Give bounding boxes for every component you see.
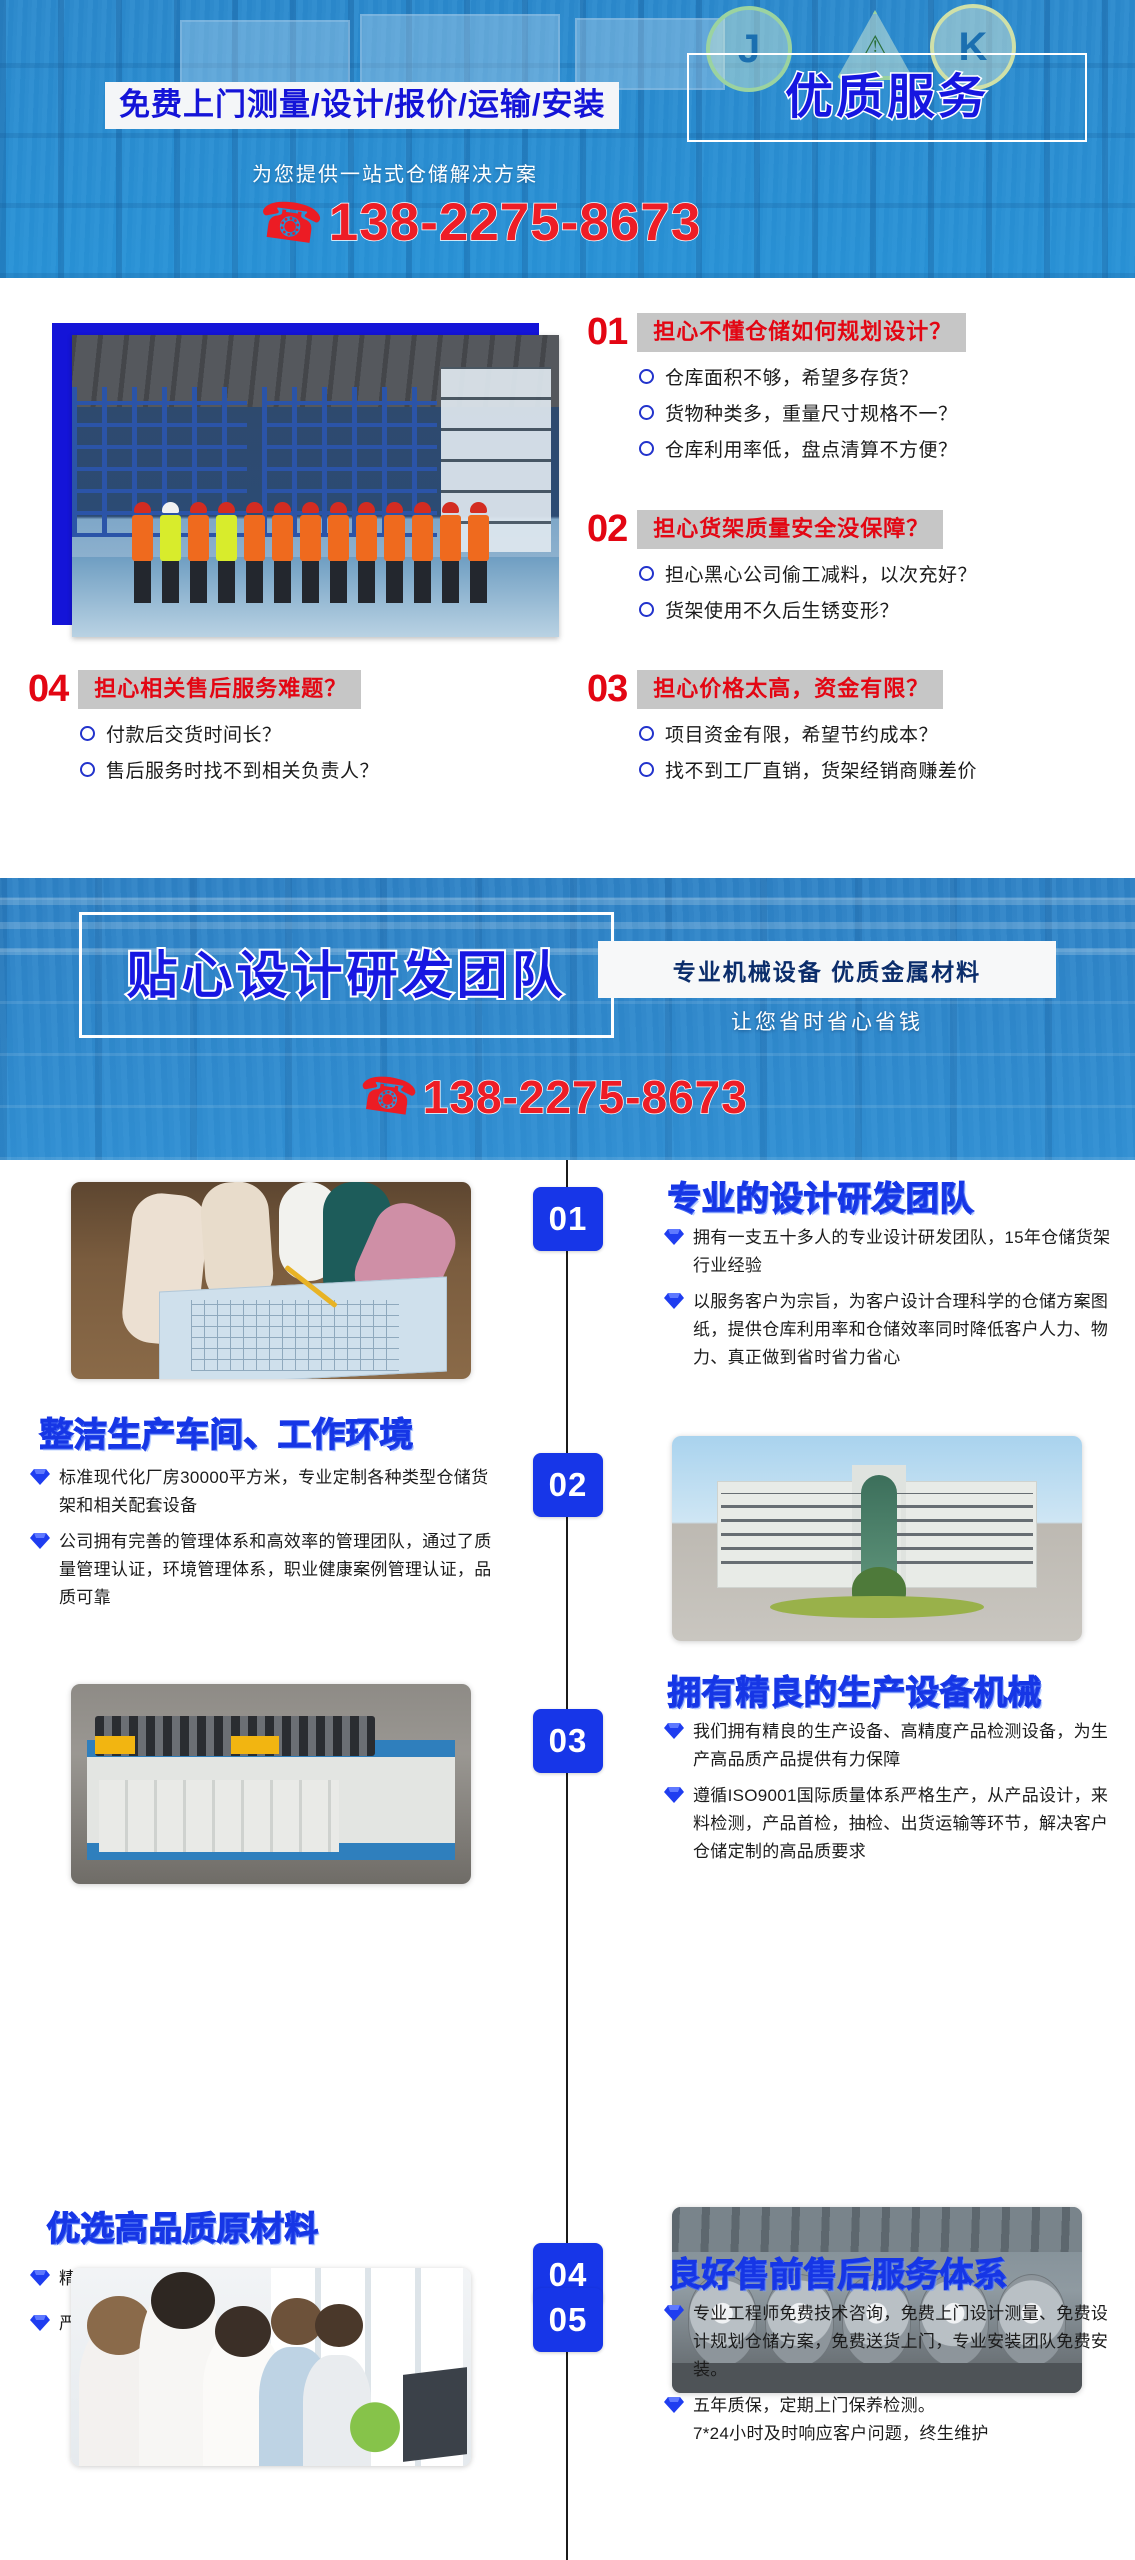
diamond-icon bbox=[664, 1292, 684, 1310]
faq-item-04: 04 担心相关售后服务难题？ 付款后交货时间长？ 售后服务时找不到相关负责人？ bbox=[28, 670, 379, 792]
faq-number: 02 bbox=[587, 510, 627, 548]
faq-point: 售后服务时找不到相关负责人？ bbox=[80, 756, 379, 783]
diamond-icon bbox=[30, 1468, 50, 1486]
faq-item-03: 03 担心价格太高，资金有限？ 项目资金有限，希望节约成本？ 找不到工厂直销，货… bbox=[587, 670, 977, 792]
faq-point-text: 担心黑心公司偷工减料，以次充好？ bbox=[665, 560, 977, 587]
faq-point-text: 仓库利用率低，盘点清算不方便？ bbox=[665, 435, 958, 462]
faq-point: 仓库利用率低，盘点清算不方便？ bbox=[639, 435, 966, 462]
feature-badge-05: 05 bbox=[533, 2288, 603, 2352]
diamond-icon bbox=[664, 1722, 684, 1740]
feature-point: 拥有一支五十多人的专业设计研发团队，15年仓储货架行业经验 bbox=[664, 1224, 1114, 1280]
faq-question: 担心价格太高，资金有限？ bbox=[637, 670, 943, 709]
feature-point-text: 以服务客户为宗旨，为客户设计合理科学的仓储方案图纸，提供仓库利用率和仓储效率同时… bbox=[693, 1288, 1114, 1372]
circle-bullet-icon bbox=[80, 726, 95, 741]
mid-banner-tagline: 专业机械设备 优质金属材料 bbox=[673, 953, 981, 987]
top-banner-phone-number: 138-2275-8673 bbox=[329, 196, 702, 249]
faq-point: 找不到工厂直销，货架经销商赚差价 bbox=[639, 756, 977, 783]
feature-title-05: 良好售前售后服务体系 bbox=[668, 2258, 1008, 2291]
diamond-icon bbox=[664, 2396, 684, 2414]
ceiling-beam bbox=[0, 898, 1135, 905]
mid-banner: 贴心设计研发团队 专业机械设备 优质金属材料 让您省时省心省钱 ☎ 138-22… bbox=[0, 878, 1135, 1160]
faq-point-text: 货架使用不久后生锈变形？ bbox=[665, 596, 899, 623]
feature-body-02: 标准现代化厂房30000平方米，专业定制各种类型仓储货架和相关配套设备 公司拥有… bbox=[30, 1464, 500, 1620]
faq-head: 01 担心不懂仓储如何规划设计？ bbox=[587, 313, 966, 352]
diamond-icon bbox=[664, 1228, 684, 1246]
feature-point-text: 专业工程师免费技术咨询，免费上门设计测量、免费设计规划仓储方案，免费送货上门，专… bbox=[693, 2300, 1119, 2384]
mid-banner-title: 贴心设计研发团队 bbox=[126, 950, 566, 1001]
faq-point: 项目资金有限，希望节约成本？ bbox=[639, 720, 977, 747]
feature-point: 公司拥有完善的管理体系和高效率的管理团队，通过了质量管理认证，环境管理体系，职业… bbox=[30, 1528, 500, 1612]
faq-point-text: 售后服务时找不到相关负责人？ bbox=[106, 756, 379, 783]
circle-bullet-icon bbox=[639, 762, 654, 777]
top-banner-phone[interactable]: ☎ 138-2275-8673 bbox=[258, 196, 701, 249]
faq-number: 03 bbox=[587, 670, 627, 708]
faq-point-list: 担心黑心公司偷工减料，以次充好？ 货架使用不久后生锈变形？ bbox=[587, 560, 977, 623]
warehouse-team-photo bbox=[72, 335, 559, 637]
decor-box bbox=[180, 20, 350, 90]
diamond-icon bbox=[30, 1532, 50, 1550]
circle-bullet-icon bbox=[639, 566, 654, 581]
feature-point: 五年质保，定期上门保养检测。 7*24小时及时响应客户问题，终生维护 bbox=[664, 2392, 1119, 2448]
diamond-icon bbox=[30, 2314, 50, 2332]
faq-head: 02 担心货架质量安全没保障？ bbox=[587, 510, 977, 549]
mid-banner-title-box: 贴心设计研发团队 bbox=[79, 912, 614, 1038]
faq-head: 04 担心相关售后服务难题？ bbox=[28, 670, 379, 709]
faq-point: 担心黑心公司偷工减料，以次充好？ bbox=[639, 560, 977, 587]
mid-banner-tagline-box: 专业机械设备 优质金属材料 bbox=[598, 941, 1056, 998]
feature-body-05: 专业工程师免费技术咨询，免费上门设计测量、免费设计规划仓储方案，免费送货上门，专… bbox=[664, 2300, 1119, 2456]
top-banner-title: 免费上门测量/设计/报价/运输/安装 bbox=[105, 82, 619, 129]
faq-point-text: 找不到工厂直销，货架经销商赚差价 bbox=[665, 756, 977, 783]
feature-point-text: 五年质保，定期上门保养检测。 7*24小时及时响应客户问题，终生维护 bbox=[693, 2392, 989, 2448]
faq-question: 担心货架质量安全没保障？ bbox=[637, 510, 943, 549]
faq-question: 担心相关售后服务难题？ bbox=[78, 670, 361, 709]
faq-point-list: 付款后交货时间长？ 售后服务时找不到相关负责人？ bbox=[28, 720, 379, 783]
faq-point-text: 仓库面积不够，希望多存货？ bbox=[665, 363, 919, 390]
faq-point: 货架使用不久后生锈变形？ bbox=[639, 596, 977, 623]
phone-handset-icon: ☎ bbox=[255, 192, 326, 253]
circle-bullet-icon bbox=[639, 726, 654, 741]
feature-body-01: 拥有一支五十多人的专业设计研发团队，15年仓储货架行业经验 以服务客户为宗旨，为… bbox=[664, 1224, 1114, 1380]
roll-forming-machine-photo bbox=[71, 1684, 471, 1884]
circle-bullet-icon bbox=[80, 762, 95, 777]
feature-point-text: 标准现代化厂房30000平方米，专业定制各种类型仓储货架和相关配套设备 bbox=[59, 1464, 500, 1520]
faq-item-02: 02 担心货架质量安全没保障？ 担心黑心公司偷工减料，以次充好？ 货架使用不久后… bbox=[587, 510, 977, 632]
feature-point: 专业工程师免费技术咨询，免费上门设计测量、免费设计规划仓储方案，免费送货上门，专… bbox=[664, 2300, 1119, 2384]
feature-badge-03: 03 bbox=[533, 1709, 603, 1773]
factory-building-photo bbox=[672, 1436, 1082, 1641]
feature-title-02: 整洁生产车间、工作环境 bbox=[40, 1418, 414, 1451]
feature-badge-01: 01 bbox=[533, 1187, 603, 1251]
top-banner-subtitle: 为您提供一站式仓储解决方案 bbox=[252, 158, 538, 187]
faq-point: 货物种类多，重量尺寸规格不一？ bbox=[639, 399, 966, 426]
top-banner: J ⚠ K 免费上门测量/设计/报价/运输/安装 优质服务 为您提供一站式仓储解… bbox=[0, 0, 1135, 278]
top-banner-highlight-box: 优质服务 bbox=[687, 53, 1087, 142]
top-banner-highlight: 优质服务 bbox=[785, 74, 989, 122]
faq-point-list: 仓库面积不够，希望多存货？ 货物种类多，重量尺寸规格不一？ 仓库利用率低，盘点清… bbox=[587, 363, 966, 462]
faq-point-list: 项目资金有限，希望节约成本？ 找不到工厂直销，货架经销商赚差价 bbox=[587, 720, 977, 783]
call-center-photo bbox=[71, 2268, 471, 2466]
top-banner-title-wrap: 免费上门测量/设计/报价/运输/安装 bbox=[105, 82, 619, 129]
mid-banner-phone-number: 138-2275-8673 bbox=[423, 1074, 748, 1120]
design-team-blueprint-photo bbox=[71, 1182, 471, 1379]
faq-number: 04 bbox=[28, 670, 68, 708]
circle-bullet-icon bbox=[639, 441, 654, 456]
diamond-icon bbox=[664, 2304, 684, 2322]
feature-body-03: 我们拥有精良的生产设备、高精度产品检测设备，为生产高品质产品提供有力保障 遵循I… bbox=[664, 1718, 1119, 1874]
feature-point-text: 遵循ISO9001国际质量体系严格生产，从产品设计，来料检测，产品首检，抽检、出… bbox=[693, 1782, 1119, 1866]
mid-banner-subtitle: 让您省时省心省钱 bbox=[598, 1006, 1056, 1036]
faq-section: 01 担心不懂仓储如何规划设计？ 仓库面积不够，希望多存货？ 货物种类多，重量尺… bbox=[0, 278, 1135, 878]
faq-head: 03 担心价格太高，资金有限？ bbox=[587, 670, 977, 709]
feature-badge-02: 02 bbox=[533, 1453, 603, 1517]
feature-title-03: 拥有精良的生产设备机械 bbox=[668, 1676, 1042, 1709]
features-section: 01 专业的设计研发团队 拥有一支五十多人的专业设计研发团队，15年仓储货架行业… bbox=[0, 1160, 1135, 2560]
faq-point-text: 货物种类多，重量尺寸规格不一？ bbox=[665, 399, 958, 426]
faq-hero-frame bbox=[52, 323, 539, 625]
circle-bullet-icon bbox=[639, 602, 654, 617]
feature-point-text: 我们拥有精良的生产设备、高精度产品检测设备，为生产高品质产品提供有力保障 bbox=[693, 1718, 1119, 1774]
feature-point: 标准现代化厂房30000平方米，专业定制各种类型仓储货架和相关配套设备 bbox=[30, 1464, 500, 1520]
faq-question: 担心不懂仓储如何规划设计？ bbox=[637, 313, 966, 352]
faq-point-text: 项目资金有限，希望节约成本？ bbox=[665, 720, 938, 747]
faq-point-text: 付款后交货时间长？ bbox=[106, 720, 282, 747]
faq-item-01: 01 担心不懂仓储如何规划设计？ 仓库面积不够，希望多存货？ 货物种类多，重量尺… bbox=[587, 313, 966, 471]
feature-point: 遵循ISO9001国际质量体系严格生产，从产品设计，来料检测，产品首检，抽检、出… bbox=[664, 1782, 1119, 1866]
feature-title-01: 专业的设计研发团队 bbox=[668, 1182, 974, 1215]
feature-point: 以服务客户为宗旨，为客户设计合理科学的仓储方案图纸，提供仓库利用率和仓储效率同时… bbox=[664, 1288, 1114, 1372]
faq-point: 付款后交货时间长？ bbox=[80, 720, 379, 747]
photo-workers-group bbox=[130, 502, 520, 607]
circle-bullet-icon bbox=[639, 369, 654, 384]
phone-handset-icon: ☎ bbox=[355, 1069, 421, 1125]
diamond-icon bbox=[30, 2269, 50, 2287]
mid-banner-phone[interactable]: ☎ 138-2275-8673 bbox=[358, 1073, 748, 1121]
feature-point: 我们拥有精良的生产设备、高精度产品检测设备，为生产高品质产品提供有力保障 bbox=[664, 1718, 1119, 1774]
faq-number: 01 bbox=[587, 313, 627, 351]
circle-bullet-icon bbox=[639, 405, 654, 420]
feature-point-text: 拥有一支五十多人的专业设计研发团队，15年仓储货架行业经验 bbox=[693, 1224, 1114, 1280]
decor-box bbox=[360, 14, 560, 90]
feature-title-04: 优选高品质原材料 bbox=[47, 2212, 319, 2245]
diamond-icon bbox=[664, 1786, 684, 1804]
faq-point: 仓库面积不够，希望多存货？ bbox=[639, 363, 966, 390]
feature-point-text: 公司拥有完善的管理体系和高效率的管理团队，通过了质量管理认证，环境管理体系，职业… bbox=[59, 1528, 500, 1612]
